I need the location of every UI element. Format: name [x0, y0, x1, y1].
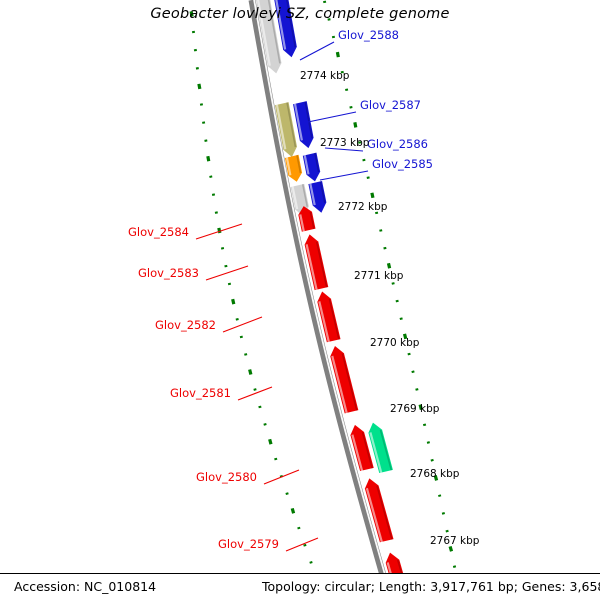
- scale-label-2768: 2768 kbp: [410, 469, 459, 480]
- scale-label-2769: 2769 kbp: [390, 404, 439, 415]
- scale-tick-major: [388, 263, 389, 268]
- gene-label-glov_2584[interactable]: Glov_2584: [128, 226, 189, 238]
- scale-label-2773: 2773 kbp: [320, 138, 369, 149]
- scale-tick-minor: [454, 566, 455, 568]
- status-bar: Accession: NC_010814 Topology: circular;…: [0, 573, 600, 600]
- gene-label-glov_2586[interactable]: Glov_2586: [367, 138, 428, 150]
- genome-map-canvas[interactable]: [0, 0, 600, 600]
- scale-label-2767: 2767 kbp: [430, 536, 479, 547]
- scale-tick-major: [199, 84, 200, 89]
- genome-map-viewer: Geobacter lovleyi SZ, complete genome Gl…: [0, 0, 600, 600]
- scale-tick-minor: [428, 442, 429, 444]
- scale-tick-major: [219, 228, 220, 233]
- scale-tick-minor: [424, 424, 425, 426]
- scale-tick-minor: [260, 406, 261, 408]
- scale-tick-minor: [265, 423, 266, 425]
- scale-tick-minor: [299, 527, 300, 529]
- page-title: Geobacter lovleyi SZ, complete genome: [0, 6, 600, 22]
- scale-tick-minor: [417, 388, 418, 390]
- scale-tick-minor: [255, 389, 256, 391]
- scale-tick-major: [337, 52, 338, 57]
- scale-tick-minor: [311, 561, 312, 563]
- gene-label-glov_2587[interactable]: Glov_2587: [360, 99, 421, 111]
- gene-label-leader-line: [206, 266, 248, 280]
- scale-tick-minor: [276, 458, 277, 460]
- scale-label-2772: 2772 kbp: [338, 202, 387, 213]
- scale-tick-minor: [409, 353, 410, 355]
- gene-label-leader-line: [223, 317, 262, 332]
- gene-label-leader-line: [286, 538, 318, 551]
- gene-label-leader-line: [308, 112, 356, 122]
- gene-feature-arrow[interactable]: [303, 153, 320, 182]
- gene-label-glov_2581[interactable]: Glov_2581: [170, 387, 231, 399]
- gene-label-leader-line: [300, 42, 334, 60]
- scale-tick-minor: [305, 544, 306, 546]
- scale-tick-minor: [287, 493, 288, 495]
- gene-label-glov_2583[interactable]: Glov_2583: [138, 267, 199, 279]
- scale-tick-major: [355, 122, 356, 127]
- scale-tick-major: [450, 546, 451, 551]
- scale-tick-major: [372, 193, 373, 198]
- genome-summary-text: Topology: circular; Length: 3,917,761 bp…: [262, 579, 600, 594]
- gene-feature-arrow[interactable]: [308, 181, 326, 213]
- scale-tick-major: [208, 156, 209, 161]
- scale-tick-minor: [447, 530, 448, 532]
- gene-label-glov_2580[interactable]: Glov_2580: [196, 471, 257, 483]
- scale-label-2771: 2771 kbp: [354, 271, 403, 282]
- scale-tick-major: [250, 370, 251, 375]
- scale-tick-minor: [439, 495, 440, 497]
- gene-label-leader-line: [196, 224, 242, 239]
- scale-tick-major: [270, 439, 271, 444]
- gene-label-leader-line: [264, 470, 299, 484]
- gene-label-leader-line: [320, 171, 368, 180]
- scale-tick-major: [292, 508, 293, 513]
- scale-tick-minor: [413, 371, 414, 373]
- feature-arrows-layer[interactable]: [256, 0, 412, 600]
- gene-feature-arrow[interactable]: [293, 101, 314, 148]
- gene-label-glov_2588[interactable]: Glov_2588: [338, 29, 399, 41]
- scale-label-2770: 2770 kbp: [370, 338, 419, 349]
- scale-tick-minor: [443, 512, 444, 514]
- scale-label-2774: 2774 kbp: [300, 71, 349, 82]
- gene-label-glov_2585[interactable]: Glov_2585: [372, 158, 433, 170]
- accession-text: Accession: NC_010814: [14, 579, 156, 594]
- scale-tick-minor: [432, 459, 433, 461]
- gene-label-glov_2582[interactable]: Glov_2582: [155, 319, 216, 331]
- gene-label-glov_2579[interactable]: Glov_2579: [218, 538, 279, 550]
- scale-tick-major: [233, 299, 234, 304]
